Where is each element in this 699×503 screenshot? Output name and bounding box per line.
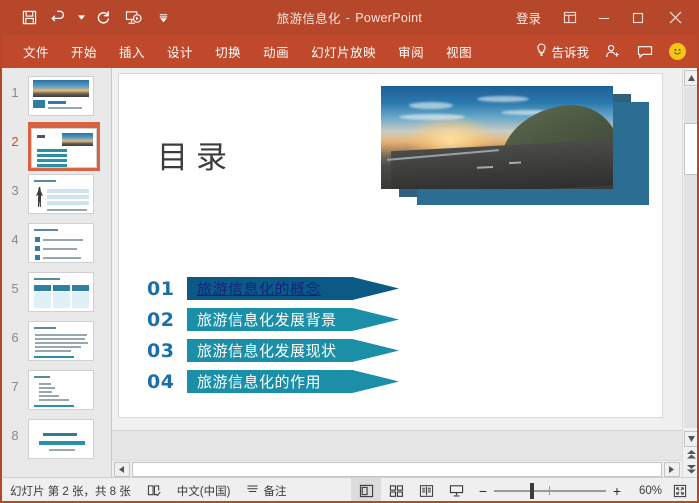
- title-bar-controls: 登录: [504, 0, 699, 35]
- app-name: PowerPoint: [355, 11, 422, 25]
- mini-li-1: [39, 383, 51, 385]
- slide-photo-group[interactable]: [381, 80, 653, 220]
- mini-slide-person: [29, 175, 93, 213]
- mini-col-head-3: [72, 285, 89, 291]
- thumb-frame-6: [28, 318, 94, 361]
- normal-view-icon[interactable]: [351, 478, 381, 503]
- mini-title-line: [48, 101, 66, 104]
- road-surface: [391, 139, 613, 189]
- mini-text-3: [35, 342, 88, 344]
- slide-number-4: 4: [2, 220, 28, 247]
- mini-text-1: [35, 334, 87, 336]
- thumb-canvas-7: [28, 370, 94, 410]
- tell-me-label: 告诉我: [551, 42, 589, 61]
- undo-icon[interactable]: [44, 4, 74, 32]
- scroll-left-arrow-icon[interactable]: [114, 462, 130, 477]
- mini-li-3: [39, 391, 52, 393]
- notes-pane[interactable]: [112, 430, 682, 460]
- mini-text-2: [35, 338, 85, 340]
- ribbon-tabs: 文件 开始 插入 设计 切换 动画 幻灯片放映 审阅 视图: [0, 35, 483, 68]
- slide-thumbnail-2[interactable]: 2: [0, 122, 111, 171]
- zoom-slider-thumb[interactable]: [530, 483, 534, 499]
- toc-item-01[interactable]: 01 旅游信息化的概念: [147, 276, 399, 301]
- save-icon[interactable]: [14, 4, 44, 32]
- mini-footer-line: [47, 209, 87, 211]
- mini-toc-photo: [62, 133, 93, 146]
- cloud-2: [477, 96, 529, 102]
- fit-to-window-icon[interactable]: [667, 478, 693, 503]
- feedback-smiley: [669, 43, 686, 60]
- share-person-icon[interactable]: [597, 35, 629, 68]
- slide-canvas-area[interactable]: 目录: [112, 68, 682, 430]
- mini-heading: [34, 180, 56, 182]
- mini-check-text-1: [43, 239, 83, 241]
- tab-view[interactable]: 视图: [435, 35, 483, 68]
- status-bar: 幻灯片 第 2 张，共 8 张 中文(中国) 备注: [0, 477, 699, 503]
- slide-thumbnail-8[interactable]: 8: [0, 416, 111, 465]
- mini-slide-checklist: [29, 224, 93, 262]
- cloud-1: [409, 102, 453, 109]
- mini-col-head-1: [34, 285, 51, 291]
- mini-person-silhouette: [36, 187, 43, 207]
- slide-number-2: 2: [2, 122, 28, 149]
- mini-footer-bar: [34, 405, 74, 407]
- mini-toc-title: [37, 135, 45, 138]
- scroll-right-arrow-icon[interactable]: [664, 462, 680, 477]
- toc-label-04[interactable]: 旅游信息化的作用: [187, 371, 321, 392]
- slide-number-7: 7: [2, 367, 28, 394]
- spellcheck-icon[interactable]: [139, 478, 169, 503]
- table-of-contents-list: 01 旅游信息化的概念 02 旅游信息化发展背景: [147, 276, 399, 400]
- undo-dropdown-chevron-down-icon[interactable]: [74, 4, 88, 32]
- notes-icon: [246, 483, 259, 498]
- zoom-level-label[interactable]: 60%: [628, 485, 662, 497]
- reading-view-icon[interactable]: [411, 478, 441, 503]
- maximize-icon[interactable]: [621, 0, 655, 35]
- slide-number-1: 1: [2, 73, 28, 100]
- mini-slide-text: [29, 322, 93, 360]
- thumb-canvas-8: [28, 419, 94, 459]
- tab-design[interactable]: 设计: [156, 35, 204, 68]
- tab-review[interactable]: 审阅: [387, 35, 435, 68]
- toc-item-03[interactable]: 03 旅游信息化发展现状: [147, 338, 399, 363]
- notes-button[interactable]: 备注: [238, 478, 294, 503]
- slide-thumbnail-4[interactable]: 4: [0, 220, 111, 269]
- smiley-icon[interactable]: [661, 35, 693, 68]
- mini-check-text-3: [43, 257, 81, 259]
- road-dash-2: [509, 161, 521, 164]
- ribbon-tab-bar: 文件 开始 插入 设计 切换 动画 幻灯片放映 审阅 视图 告诉我: [0, 35, 699, 68]
- mini-slide-toc: [32, 129, 96, 167]
- toc-label-03[interactable]: 旅游信息化发展现状: [187, 340, 337, 361]
- customize-qat-chevron-down-icon[interactable]: [148, 4, 178, 32]
- mini-toc-row-3: [37, 159, 67, 162]
- tab-home[interactable]: 开始: [60, 35, 108, 68]
- mini-heading: [34, 278, 60, 280]
- toc-item-02[interactable]: 02 旅游信息化发展背景: [147, 307, 399, 332]
- toc-banner-02[interactable]: 旅游信息化发展背景: [187, 308, 399, 331]
- tab-animations[interactable]: 动画: [252, 35, 300, 68]
- mini-li-4: [39, 395, 59, 397]
- thumb-canvas-5: [28, 272, 94, 312]
- zoom-control[interactable]: − + 60%: [471, 478, 699, 503]
- mini-slide-three-col: [29, 273, 93, 311]
- slide-position-indicator[interactable]: 幻灯片 第 2 张，共 8 张: [0, 478, 139, 503]
- current-slide[interactable]: 目录: [118, 73, 663, 418]
- thumb-frame-3: [28, 171, 94, 214]
- mini-sub-line: [48, 107, 82, 109]
- mini-slide-thankyou: [29, 420, 93, 458]
- mini-slide-list: [29, 371, 93, 409]
- thumb-frame-7: [28, 367, 94, 410]
- zoom-out-button[interactable]: −: [477, 483, 489, 499]
- thumb-canvas-2: [31, 128, 97, 168]
- toc-number-04: 04: [147, 371, 187, 393]
- tab-file[interactable]: 文件: [12, 35, 60, 68]
- toc-number-03: 03: [147, 340, 187, 362]
- mini-thankyou-text: [43, 433, 77, 436]
- ribbon-options-icon[interactable]: [553, 0, 587, 35]
- slide-number-6: 6: [2, 318, 28, 345]
- road-dash-1: [477, 166, 493, 169]
- mini-text-4: [35, 346, 81, 348]
- powerpoint-window: 旅游信息化 - PowerPoint 登录: [0, 0, 699, 503]
- title-separator: -: [346, 11, 350, 25]
- redo-icon[interactable]: [88, 4, 118, 32]
- mini-heading: [34, 229, 58, 231]
- language-indicator[interactable]: 中文(中国): [169, 478, 239, 503]
- thumb-canvas-1: [28, 76, 94, 116]
- slide-thumbnail-3[interactable]: 3: [0, 171, 111, 220]
- mini-row-2: [47, 195, 89, 199]
- thumb-canvas-6: [28, 321, 94, 361]
- mini-check-3: [35, 255, 40, 260]
- thumb-frame-1: [28, 73, 94, 116]
- present-icon[interactable]: [118, 4, 148, 32]
- horizontal-scroll-thumb[interactable]: [132, 462, 662, 477]
- slide-thumbnail-7[interactable]: 7: [0, 367, 111, 416]
- mini-text-5: [35, 350, 71, 352]
- horizontal-scrollbar[interactable]: [112, 460, 682, 477]
- mini-col-body-2: [53, 292, 70, 308]
- mini-heading: [34, 327, 56, 329]
- mini-accent-block: [33, 100, 45, 108]
- mountain-road-sunset-photo: [381, 86, 613, 189]
- workspace: 1 2: [0, 68, 699, 477]
- close-icon[interactable]: [655, 0, 695, 35]
- slide-sorter-icon[interactable]: [381, 478, 411, 503]
- slide-number-8: 8: [2, 416, 28, 443]
- quick-access-toolbar: [0, 4, 178, 32]
- slide-number-5: 5: [2, 269, 28, 296]
- mini-heading: [34, 376, 50, 378]
- toc-label-01[interactable]: 旅游信息化的概念: [187, 278, 321, 299]
- window-border-left: [0, 0, 2, 503]
- thumb-frame-8: [28, 416, 94, 459]
- notes-label: 备注: [263, 483, 286, 499]
- mini-toc-row-4: [37, 164, 67, 167]
- mini-check-text-2: [43, 248, 77, 250]
- mini-toc-row-1: [37, 149, 67, 152]
- ribbon-right-tools: 告诉我: [528, 35, 699, 68]
- thumb-frame-5: [28, 269, 94, 312]
- toc-label-02[interactable]: 旅游信息化发展背景: [187, 309, 337, 330]
- mini-row-1: [47, 189, 89, 193]
- tab-transitions[interactable]: 切换: [204, 35, 252, 68]
- thumb-canvas-3: [28, 174, 94, 214]
- slide-thumbnail-1[interactable]: 1: [0, 73, 111, 122]
- thumb-canvas-4: [28, 223, 94, 263]
- slide-thumbnail-5[interactable]: 5: [0, 269, 111, 318]
- mini-row-3: [47, 201, 89, 205]
- toc-item-04[interactable]: 04 旅游信息化的作用: [147, 369, 399, 394]
- toc-number-02: 02: [147, 309, 187, 331]
- mini-li-2: [39, 387, 55, 389]
- toc-banner-04[interactable]: 旅游信息化的作用: [187, 370, 399, 393]
- zoom-slider-tick: [549, 486, 550, 495]
- slide-thumbnail-6[interactable]: 6: [0, 318, 111, 367]
- slide-thumbnail-list: 1 2: [0, 68, 111, 465]
- tab-slideshow[interactable]: 幻灯片放映: [300, 35, 387, 68]
- mini-col-head-2: [53, 285, 70, 291]
- toc-banner-03[interactable]: 旅游信息化发展现状: [187, 339, 399, 362]
- slide-title[interactable]: 目录: [157, 132, 235, 177]
- mini-check-2: [35, 246, 40, 251]
- mini-slide-cover: [29, 77, 93, 115]
- thumb-frame-4: [28, 220, 94, 263]
- toc-banner-01[interactable]: 旅游信息化的概念: [187, 277, 399, 300]
- cloud-3: [399, 114, 465, 120]
- sign-in-button[interactable]: 登录: [504, 0, 553, 35]
- mini-check-1: [35, 237, 40, 242]
- mini-toc-row-2: [37, 154, 67, 157]
- title-bar: 旅游信息化 - PowerPoint 登录: [0, 0, 699, 35]
- mini-thankyou-sub: [49, 449, 75, 451]
- mini-footer-bar: [34, 356, 74, 358]
- mini-col-body-3: [72, 292, 89, 308]
- mini-photo: [33, 80, 89, 97]
- thumb-frame-2: [28, 122, 100, 171]
- document-title: 旅游信息化: [277, 8, 341, 27]
- lightbulb-icon: [536, 43, 547, 60]
- slide-thumbnail-pane[interactable]: 1 2: [0, 68, 112, 477]
- toc-number-01: 01: [147, 278, 187, 300]
- zoom-slider[interactable]: [494, 478, 606, 503]
- slide-number-3: 3: [2, 171, 28, 198]
- zoom-in-button[interactable]: +: [611, 483, 623, 499]
- minimize-icon[interactable]: [587, 0, 621, 35]
- tab-insert[interactable]: 插入: [108, 35, 156, 68]
- mini-li-5: [39, 399, 69, 401]
- comment-icon[interactable]: [629, 35, 661, 68]
- mini-col-body-1: [34, 292, 51, 308]
- slide-show-icon[interactable]: [441, 478, 471, 503]
- slide-editor: 目录: [112, 68, 682, 477]
- mini-thankyou-bar: [39, 441, 85, 445]
- tell-me-box[interactable]: 告诉我: [528, 35, 597, 68]
